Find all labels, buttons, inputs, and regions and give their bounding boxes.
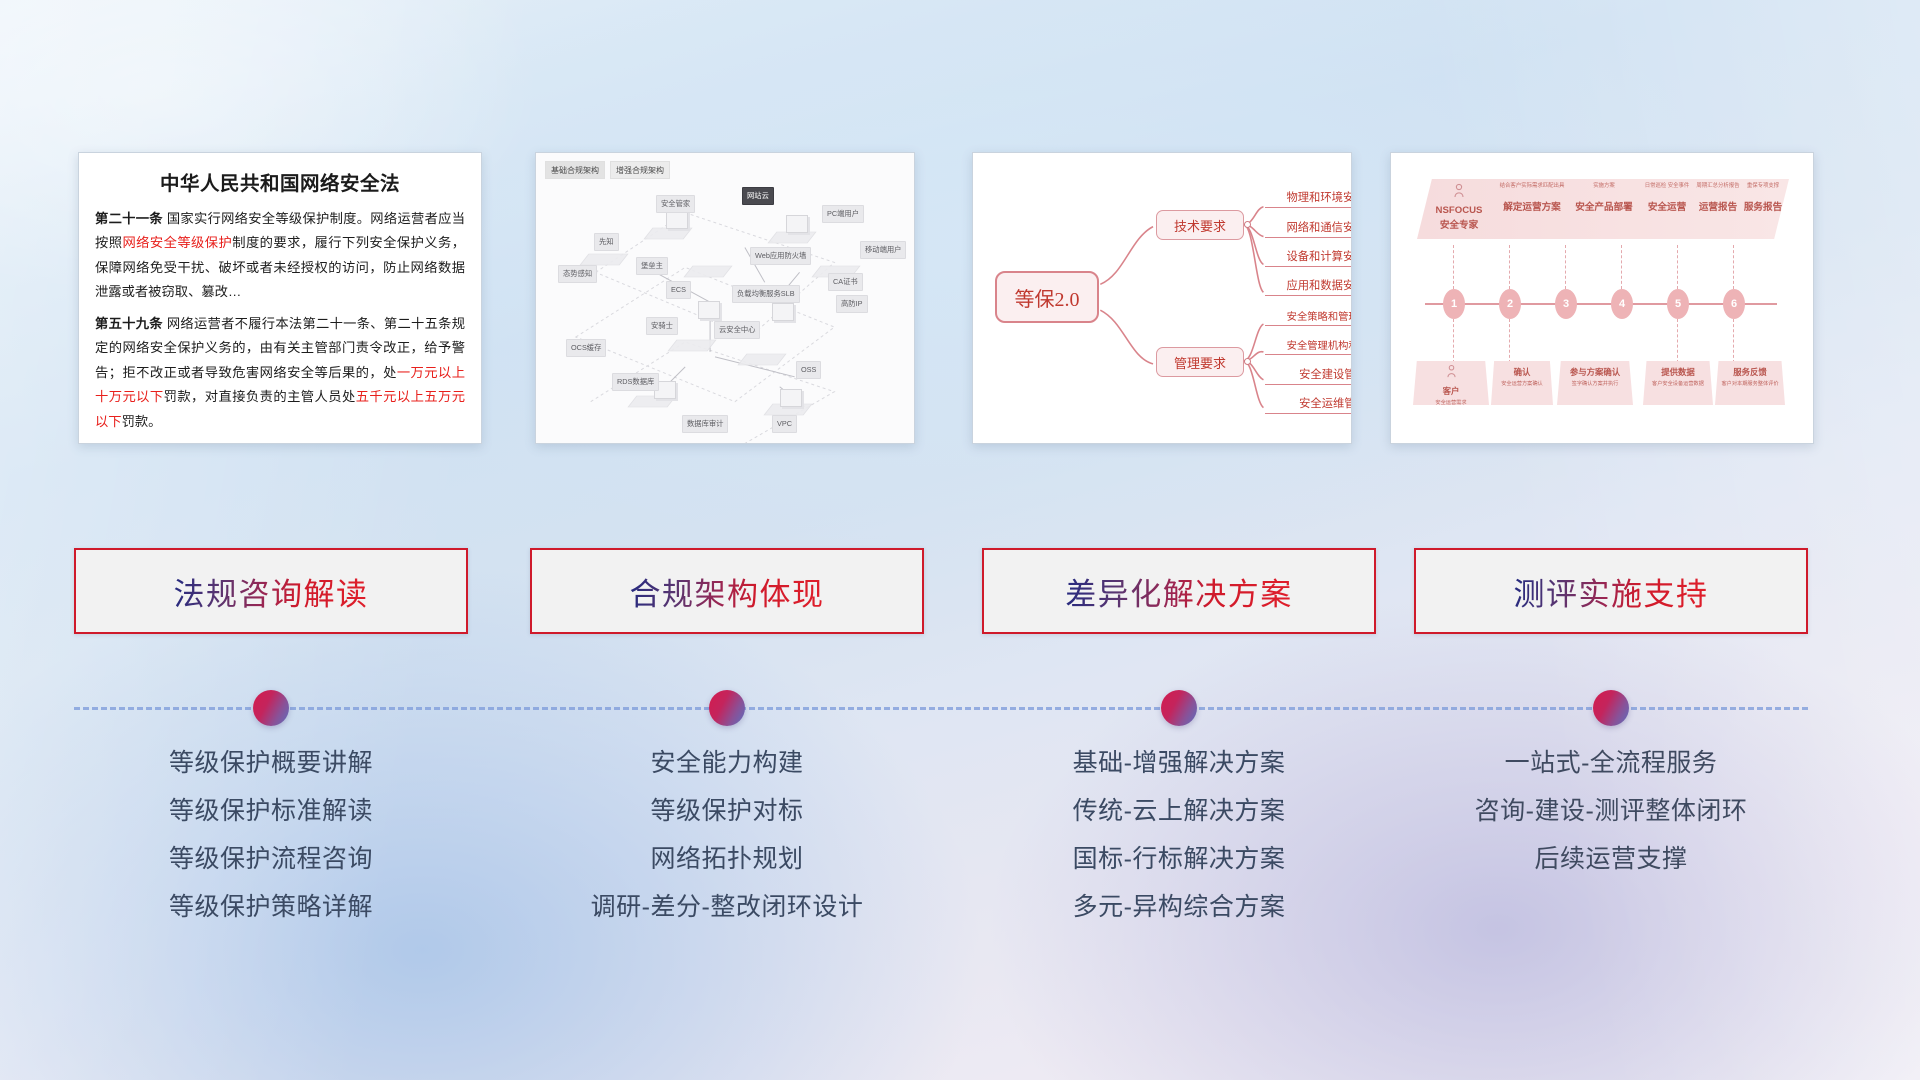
list-item: 咨询-建设-测评整体闭环 bbox=[1414, 788, 1808, 836]
list-item: 等级保护对标 bbox=[530, 788, 924, 836]
section-heading-2-label: 合规架构体现 bbox=[630, 569, 825, 614]
list-item: 等级保护概要讲解 bbox=[74, 740, 468, 788]
timeline-dot-1[interactable] bbox=[253, 690, 289, 726]
list-item: 等级保护标准解读 bbox=[74, 788, 468, 836]
detail-column-1: 等级保护概要讲解 等级保护标准解读 等级保护流程咨询 等级保护策略详解 bbox=[74, 740, 468, 932]
list-item: 传统-云上解决方案 bbox=[982, 788, 1376, 836]
timeline-dot-4[interactable] bbox=[1593, 690, 1629, 726]
list-item: 国标-行标解决方案 bbox=[982, 836, 1376, 884]
list-item: 一站式-全流程服务 bbox=[1414, 740, 1808, 788]
detail-column-4: 一站式-全流程服务 咨询-建设-测评整体闭环 后续运营支撑 bbox=[1414, 740, 1808, 884]
list-item: 等级保护策略详解 bbox=[74, 884, 468, 932]
detail-column-2: 安全能力构建 等级保护对标 网络拓扑规划 调研-差分-整改闭环设计 bbox=[530, 740, 924, 932]
section-heading-3[interactable]: 差异化解决方案 bbox=[982, 548, 1376, 634]
list-item: 等级保护流程咨询 bbox=[74, 836, 468, 884]
list-item: 多元-异构综合方案 bbox=[982, 884, 1376, 932]
list-item: 网络拓扑规划 bbox=[530, 836, 924, 884]
list-item: 调研-差分-整改闭环设计 bbox=[530, 884, 924, 932]
section-heading-1-label: 法规咨询解读 bbox=[174, 569, 369, 614]
timeline-dot-2[interactable] bbox=[709, 690, 745, 726]
section-heading-3-label: 差异化解决方案 bbox=[1065, 569, 1293, 614]
section-heading-4[interactable]: 测评实施支持 bbox=[1414, 548, 1808, 634]
timeline bbox=[0, 690, 1920, 730]
section-heading-4-label: 测评实施支持 bbox=[1514, 569, 1709, 614]
timeline-dot-3[interactable] bbox=[1161, 690, 1197, 726]
section-heading-2[interactable]: 合规架构体现 bbox=[530, 548, 924, 634]
timeline-dashed-line bbox=[74, 707, 1808, 710]
detail-column-3: 基础-增强解决方案 传统-云上解决方案 国标-行标解决方案 多元-异构综合方案 bbox=[982, 740, 1376, 932]
section-heading-1[interactable]: 法规咨询解读 bbox=[74, 548, 468, 634]
list-item: 基础-增强解决方案 bbox=[982, 740, 1376, 788]
list-item: 后续运营支撑 bbox=[1414, 836, 1808, 884]
list-item: 安全能力构建 bbox=[530, 740, 924, 788]
